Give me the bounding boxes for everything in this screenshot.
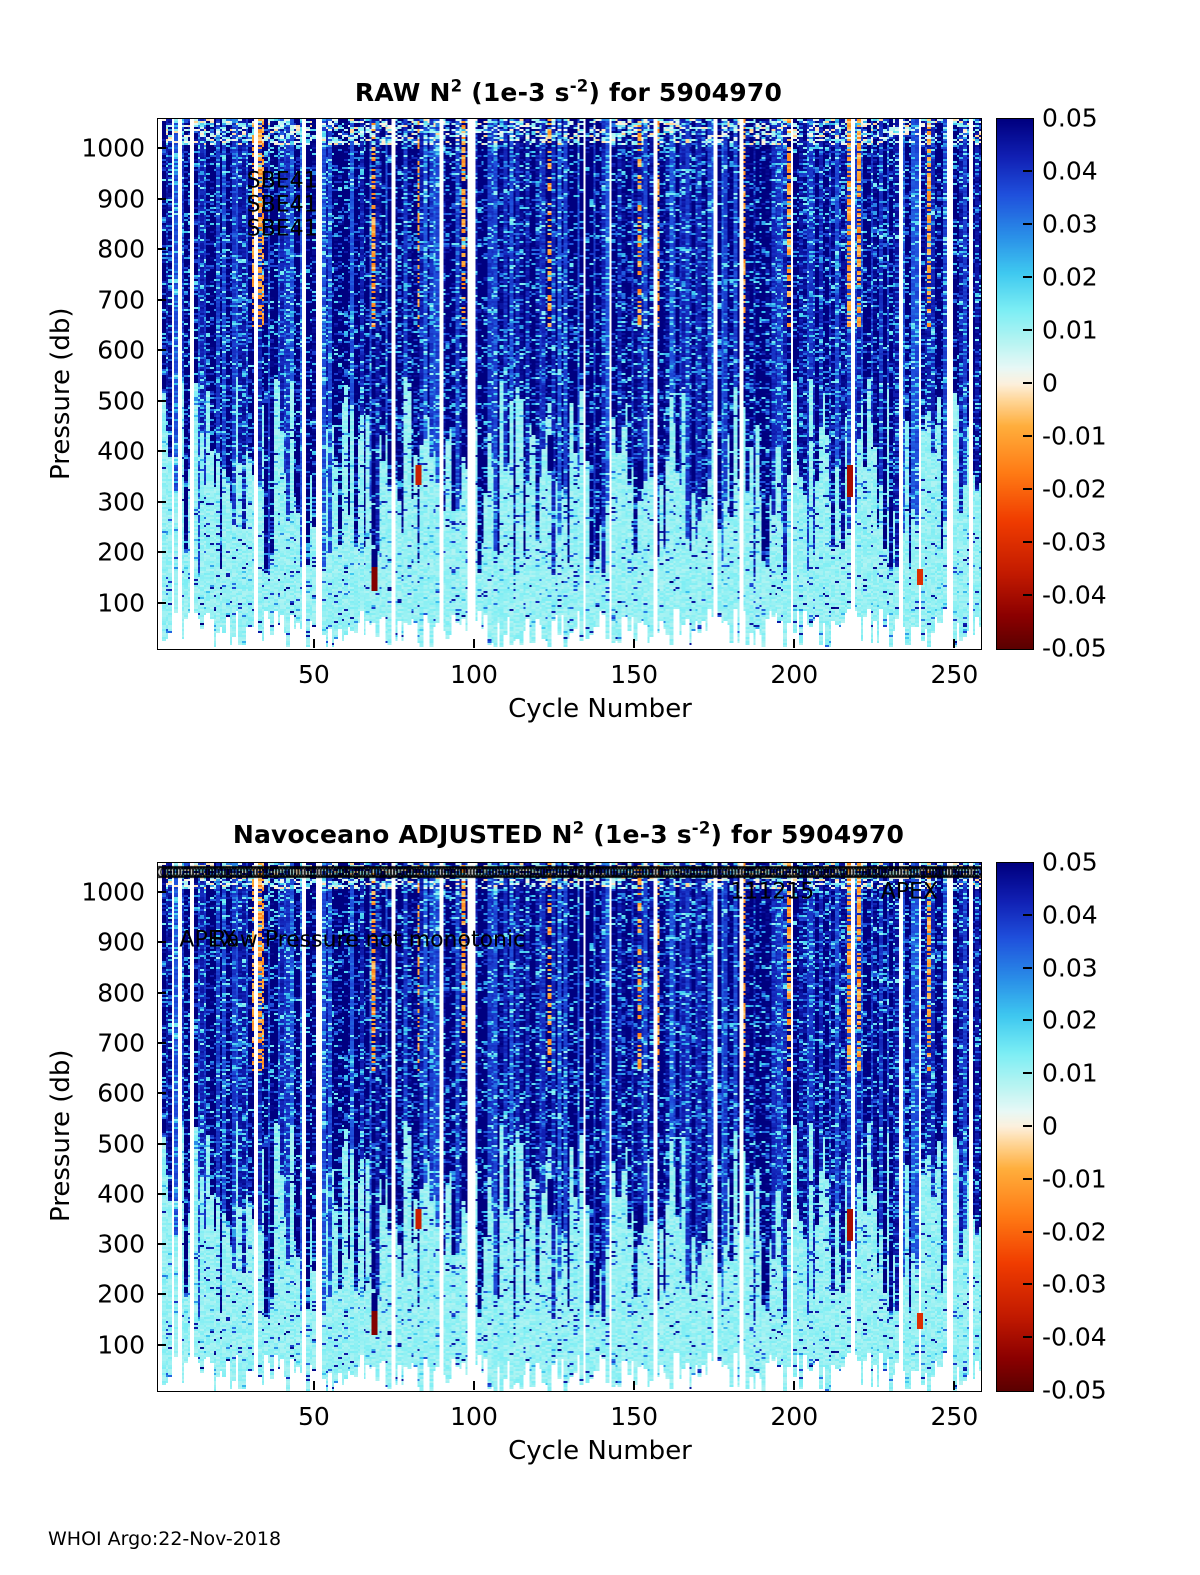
y-tick-label: 1000 [81, 878, 145, 907]
y-tick-label: 300 [97, 487, 145, 516]
colorbar-tick-mark [1023, 488, 1032, 490]
plot-annotation: Raw Pressure not monotonic [211, 927, 525, 952]
x-tick-mark [473, 639, 475, 648]
colorbar-tick-mark [1023, 1072, 1032, 1074]
x-tick-mark [313, 1381, 315, 1390]
raw-title-mid: (1e-3 s [462, 78, 569, 107]
x-tick-mark [953, 1381, 955, 1390]
adjusted-panel: Navoceano ADJUSTED N2 (1e-3 s-2) for 590… [0, 790, 1200, 1490]
colorbar-tick-label: -0.04 [1042, 1323, 1107, 1352]
y-tick-mark [157, 1344, 166, 1346]
y-tick-mark [157, 602, 166, 604]
y-tick-label: 400 [97, 1179, 145, 1208]
y-tick-mark [157, 501, 166, 503]
y-tick-label: 600 [97, 336, 145, 365]
colorbar-tick-label: 0.03 [1042, 210, 1098, 239]
raw-title-pre: RAW N [355, 78, 451, 107]
raw-colorbar[interactable] [996, 118, 1034, 650]
y-tick-label: 500 [97, 1129, 145, 1158]
y-tick-mark [157, 1092, 166, 1094]
plot-annotation: APEX [881, 880, 938, 905]
y-tick-label: 100 [97, 1330, 145, 1359]
x-tick-mark [793, 1381, 795, 1390]
plot-annotation: 111215 [730, 880, 814, 905]
x-tick-mark [953, 639, 955, 648]
raw-y-axis-title: Pressure (db) [46, 307, 76, 480]
raw-panel-title: RAW N2 (1e-3 s-2) for 5904970 [157, 78, 980, 107]
colorbar-tick-mark [1023, 1231, 1032, 1233]
colorbar-tick-label: 0.04 [1042, 157, 1098, 186]
y-tick-mark [157, 147, 166, 149]
colorbar-tick-mark [1023, 1336, 1032, 1338]
colorbar-tick-label: -0.03 [1042, 1270, 1107, 1299]
y-tick-label: 300 [97, 1230, 145, 1259]
y-tick-mark [157, 1193, 166, 1195]
y-tick-mark [157, 551, 166, 553]
x-tick-label: 100 [450, 660, 498, 689]
adjusted-y-axis-title: Pressure (db) [46, 1049, 76, 1222]
colorbar-tick-label: 0.02 [1042, 1006, 1098, 1035]
y-tick-mark [157, 1143, 166, 1145]
x-tick-label: 250 [931, 1402, 979, 1431]
x-tick-label: 150 [610, 660, 658, 689]
colorbar-tick-label: 0.05 [1042, 104, 1098, 133]
y-tick-label: 1000 [81, 134, 145, 163]
adj-title-post: ) for 5904970 [711, 820, 905, 849]
x-tick-mark [793, 639, 795, 648]
colorbar-tick-label: 0.01 [1042, 1059, 1098, 1088]
y-tick-label: 600 [97, 1079, 145, 1108]
x-tick-label: 50 [298, 660, 330, 689]
colorbar-tick-label: -0.05 [1042, 634, 1107, 663]
x-tick-label: 200 [770, 660, 818, 689]
raw-x-axis-title: Cycle Number [0, 694, 1200, 724]
y-tick-label: 200 [97, 1280, 145, 1309]
y-tick-label: 900 [97, 928, 145, 957]
y-tick-mark [157, 248, 166, 250]
colorbar-tick-label: -0.03 [1042, 528, 1107, 557]
colorbar-tick-label: -0.01 [1042, 1164, 1107, 1193]
colorbar-tick-mark [1023, 223, 1032, 225]
y-tick-mark [157, 1293, 166, 1295]
colorbar-tick-label: 0.05 [1042, 848, 1098, 877]
colorbar-tick-mark [1023, 541, 1032, 543]
plot-annotation: SBE41 [247, 169, 318, 194]
y-tick-label: 400 [97, 437, 145, 466]
y-tick-label: 700 [97, 1029, 145, 1058]
y-tick-mark [157, 400, 166, 402]
colorbar-tick-label: -0.02 [1042, 475, 1107, 504]
colorbar-tick-mark [1023, 435, 1032, 437]
adjusted-x-axis-title: Cycle Number [0, 1436, 1200, 1466]
colorbar-tick-mark [1023, 967, 1032, 969]
colorbar-tick-label: -0.04 [1042, 581, 1107, 610]
y-tick-mark [157, 450, 166, 452]
raw-title-post: ) for 5904970 [588, 78, 782, 107]
colorbar-tick-label: 0.03 [1042, 953, 1098, 982]
raw-title-sup1: 2 [451, 77, 463, 96]
x-tick-label: 200 [770, 1402, 818, 1431]
colorbar-tick-mark [1023, 170, 1032, 172]
figure-footer: WHOI Argo:22-Nov-2018 [48, 1528, 281, 1550]
colorbar-tick-label: 0.02 [1042, 263, 1098, 292]
colorbar-tick-mark [1023, 276, 1032, 278]
colorbar-tick-label: -0.05 [1042, 1376, 1107, 1405]
raw-title-sup2: -2 [570, 77, 589, 96]
colorbar-tick-label: 0.04 [1042, 900, 1098, 929]
colorbar-tick-mark [1023, 914, 1032, 916]
adj-title-pre: Navoceano ADJUSTED N [233, 820, 573, 849]
x-tick-label: 100 [450, 1402, 498, 1431]
y-tick-label: 500 [97, 386, 145, 415]
y-tick-mark [157, 349, 166, 351]
adj-title-sup2: -2 [692, 819, 711, 838]
colorbar-tick-mark [1023, 1125, 1032, 1127]
colorbar-tick-mark [1023, 1283, 1032, 1285]
y-tick-mark [157, 198, 166, 200]
adjusted-colorbar[interactable] [996, 862, 1034, 1392]
x-tick-label: 50 [298, 1402, 330, 1431]
y-tick-label: 800 [97, 235, 145, 264]
raw-panel: RAW N2 (1e-3 s-2) for 5904970 1002003004… [0, 0, 1200, 790]
colorbar-tick-mark [1023, 594, 1032, 596]
x-tick-label: 250 [931, 660, 979, 689]
x-tick-mark [473, 1381, 475, 1390]
plot-annotation: SBE41 [247, 217, 318, 242]
y-tick-label: 200 [97, 538, 145, 567]
adj-title-mid: (1e-3 s [584, 820, 691, 849]
colorbar-tick-label: -0.01 [1042, 422, 1107, 451]
x-tick-mark [633, 639, 635, 648]
adjusted-panel-title: Navoceano ADJUSTED N2 (1e-3 s-2) for 590… [157, 820, 980, 849]
y-tick-label: 900 [97, 184, 145, 213]
y-tick-mark [157, 1042, 166, 1044]
y-tick-label: 700 [97, 285, 145, 314]
y-tick-mark [157, 1243, 166, 1245]
x-tick-mark [313, 639, 315, 648]
x-tick-label: 150 [610, 1402, 658, 1431]
plot-annotation: SBE41 [247, 192, 318, 217]
y-tick-mark [157, 992, 166, 994]
colorbar-tick-label: -0.02 [1042, 1217, 1107, 1246]
y-tick-mark [157, 891, 166, 893]
cycle-marker-row [158, 863, 981, 881]
colorbar-tick-label: 0 [1042, 369, 1058, 398]
colorbar-tick-mark [1023, 1178, 1032, 1180]
colorbar-tick-label: 0.01 [1042, 316, 1098, 345]
y-tick-label: 800 [97, 978, 145, 1007]
x-tick-mark [633, 1381, 635, 1390]
adj-title-sup1: 2 [573, 819, 585, 838]
colorbar-tick-mark [1023, 382, 1032, 384]
colorbar-tick-mark [1023, 329, 1032, 331]
y-tick-mark [157, 299, 166, 301]
y-tick-label: 100 [97, 588, 145, 617]
y-tick-mark [157, 941, 166, 943]
colorbar-tick-mark [1023, 1019, 1032, 1021]
colorbar-tick-label: 0 [1042, 1112, 1058, 1141]
